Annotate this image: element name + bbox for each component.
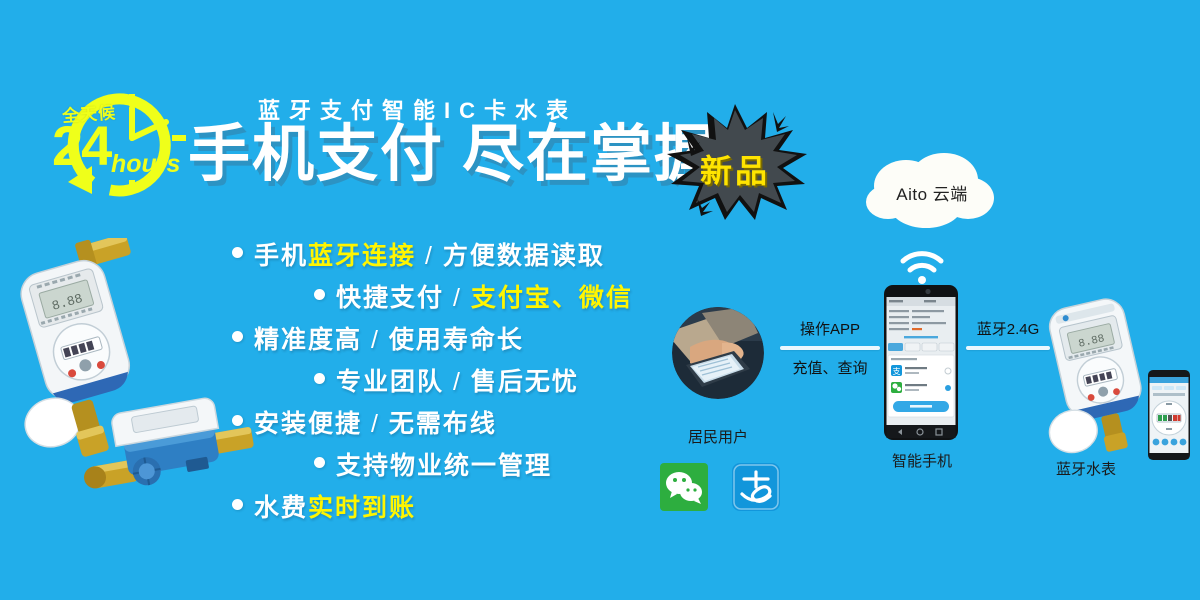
alipay-icon[interactable] bbox=[732, 463, 780, 511]
smartphone-graphic: 支 bbox=[884, 285, 958, 440]
feature-text: / bbox=[444, 368, 471, 396]
cloud-shape: Aito 云端 bbox=[862, 150, 1002, 235]
svg-text:支: 支 bbox=[893, 366, 901, 376]
feature-text: 支持物业统一管理 bbox=[336, 452, 552, 480]
connector-app-bottom-label: 充值、查询 bbox=[776, 357, 884, 378]
new-product-badge: 新品 bbox=[655, 98, 815, 223]
connector-app-top-label: 操作APP bbox=[776, 318, 884, 339]
feature-item: 快捷支付 / 支付宝、微信 bbox=[232, 278, 692, 314]
feature-text: 方便数据读取 bbox=[443, 242, 605, 270]
feature-item: 水费实时到账 bbox=[232, 488, 692, 524]
user-label: 居民用户 bbox=[658, 426, 778, 447]
user-photo bbox=[672, 307, 764, 399]
product-photo-bluetooth-meter: 8.88 bbox=[1040, 296, 1160, 461]
promo-banner: 全天候 24 hours 蓝牙支付智能IC卡水表 手机支付尽在掌握 新品 手机蓝… bbox=[0, 0, 1200, 600]
feature-highlight-text: 蓝牙连接 bbox=[308, 242, 416, 270]
feature-text: 手机 bbox=[254, 242, 308, 270]
feature-list: 手机蓝牙连接 / 方便数据读取快捷支付 / 支付宝、微信精准度高 / 使用寿命长… bbox=[232, 236, 692, 530]
wifi-icon bbox=[898, 248, 946, 286]
feature-text: 无需布线 bbox=[389, 410, 497, 438]
feature-item: 安装便捷 / 无需布线 bbox=[232, 404, 692, 440]
feature-item: 手机蓝牙连接 / 方便数据读取 bbox=[232, 236, 692, 272]
feature-item: 精准度高 / 使用寿命长 bbox=[232, 320, 692, 356]
feature-text: 售后无忧 bbox=[471, 368, 579, 396]
feature-highlight-text: 实时到账 bbox=[308, 494, 416, 522]
feature-text: 专业团队 bbox=[336, 368, 444, 396]
feature-text: 使用寿命长 bbox=[389, 326, 524, 354]
feature-text: / bbox=[362, 410, 389, 438]
badge-unit: hours bbox=[111, 152, 180, 177]
badge-number: 24 bbox=[52, 118, 110, 174]
feature-text: 精准度高 bbox=[254, 326, 362, 354]
feature-highlight-text: 支付宝、微信 bbox=[471, 284, 633, 312]
connector-line bbox=[966, 346, 1050, 350]
banner-headline: 手机支付尽在掌握 bbox=[188, 122, 718, 189]
headline-part-1: 手机支付 bbox=[188, 120, 444, 189]
feature-item: 专业团队 / 售后无忧 bbox=[232, 362, 692, 398]
new-product-label: 新品 bbox=[655, 146, 815, 192]
meter-reading-app-phone bbox=[1148, 370, 1190, 460]
feature-text: 水费 bbox=[254, 494, 308, 522]
meter-label: 蓝牙水表 bbox=[1026, 458, 1146, 479]
feature-text: 快捷支付 bbox=[336, 284, 444, 312]
product-photo-valve-meter bbox=[82, 375, 257, 510]
wechat-pay-icon[interactable] bbox=[660, 463, 708, 511]
phone-label: 智能手机 bbox=[862, 450, 982, 471]
connector-line bbox=[780, 346, 880, 350]
feature-item: 支持物业统一管理 bbox=[232, 446, 692, 482]
feature-text: / bbox=[362, 326, 389, 354]
feature-text: 安装便捷 bbox=[254, 410, 362, 438]
connector-app: 操作APP 充值、查询 bbox=[776, 318, 884, 378]
feature-text: / bbox=[416, 242, 443, 270]
feature-text: / bbox=[444, 284, 471, 312]
cloud-label: Aito 云端 bbox=[862, 180, 1002, 205]
24-hours-badge: 全天候 24 hours bbox=[48, 86, 208, 198]
